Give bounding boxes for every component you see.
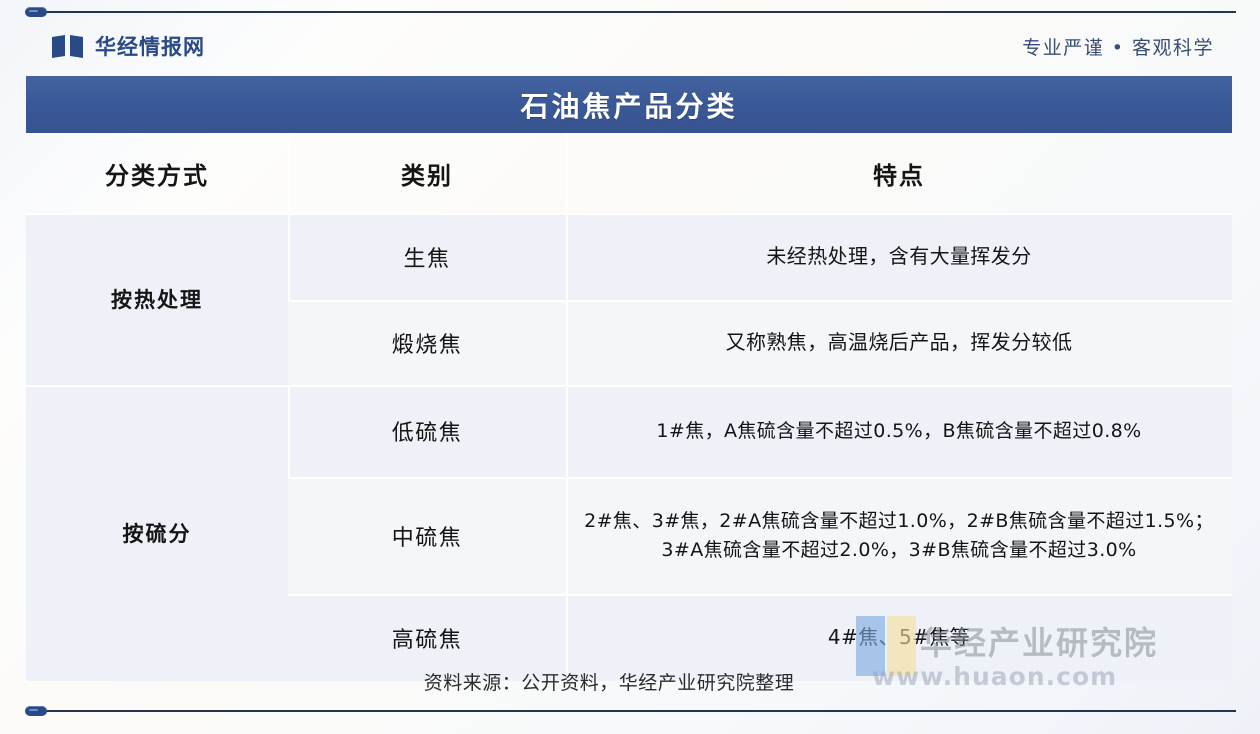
column-header-category: 类别 [288,133,566,213]
category-medium-sulfur-coke: 中硫焦 [288,477,566,594]
table-row: 按硫分 低硫焦 1#焦，A焦硫含量不超过0.5%，B焦硫含量不超过0.8% [26,385,1232,477]
top-divider-rule [26,11,1236,13]
rule-cap-icon [25,706,47,716]
column-header-method: 分类方式 [26,133,288,213]
group-label-heat-treatment: 按热处理 [26,213,288,385]
source-note: 资料来源：公开资料，华经产业研究院整理 [26,668,1232,695]
category-raw-coke: 生焦 [288,213,566,300]
rule-cap-icon [25,7,47,17]
bottom-divider-rule [26,710,1236,712]
page-title: 石油焦产品分类 [520,85,737,125]
category-calcined-coke: 煅烧焦 [288,300,566,385]
feature-calcined-coke: 又称熟焦，高温烧后产品，挥发分较低 [566,300,1232,385]
brand-tagline: 专业严谨 • 客观科学 [1022,33,1236,60]
page-header: 华经情报网 专业严谨 • 客观科学 [26,24,1236,68]
table-row: 按热处理 生焦 未经热处理，含有大量挥发分 [26,213,1232,300]
table-header-row: 分类方式 类别 特点 [26,133,1232,213]
feature-low-sulfur-coke: 1#焦，A焦硫含量不超过0.5%，B焦硫含量不超过0.8% [566,385,1232,477]
classification-table: 分类方式 类别 特点 按热处理 生焦 未经热处理，含有大量挥发分 煅烧焦 又称熟… [26,133,1232,681]
group-label-sulfur-content: 按硫分 [26,385,288,681]
brand-block: 华经情报网 [26,31,205,61]
brand-name: 华经情报网 [95,31,205,61]
title-bar: 石油焦产品分类 [26,76,1232,133]
feature-medium-sulfur-coke: 2#焦、3#焦，2#A焦硫含量不超过1.0%，2#B焦硫含量不超过1.5%；3#… [566,477,1232,594]
category-low-sulfur-coke: 低硫焦 [288,385,566,477]
open-book-icon [52,35,84,58]
table-body: 按热处理 生焦 未经热处理，含有大量挥发分 煅烧焦 又称熟焦，高温烧后产品，挥发… [26,213,1232,681]
table-header: 分类方式 类别 特点 [26,133,1232,213]
column-header-feature: 特点 [566,133,1232,213]
feature-raw-coke: 未经热处理，含有大量挥发分 [566,213,1232,300]
